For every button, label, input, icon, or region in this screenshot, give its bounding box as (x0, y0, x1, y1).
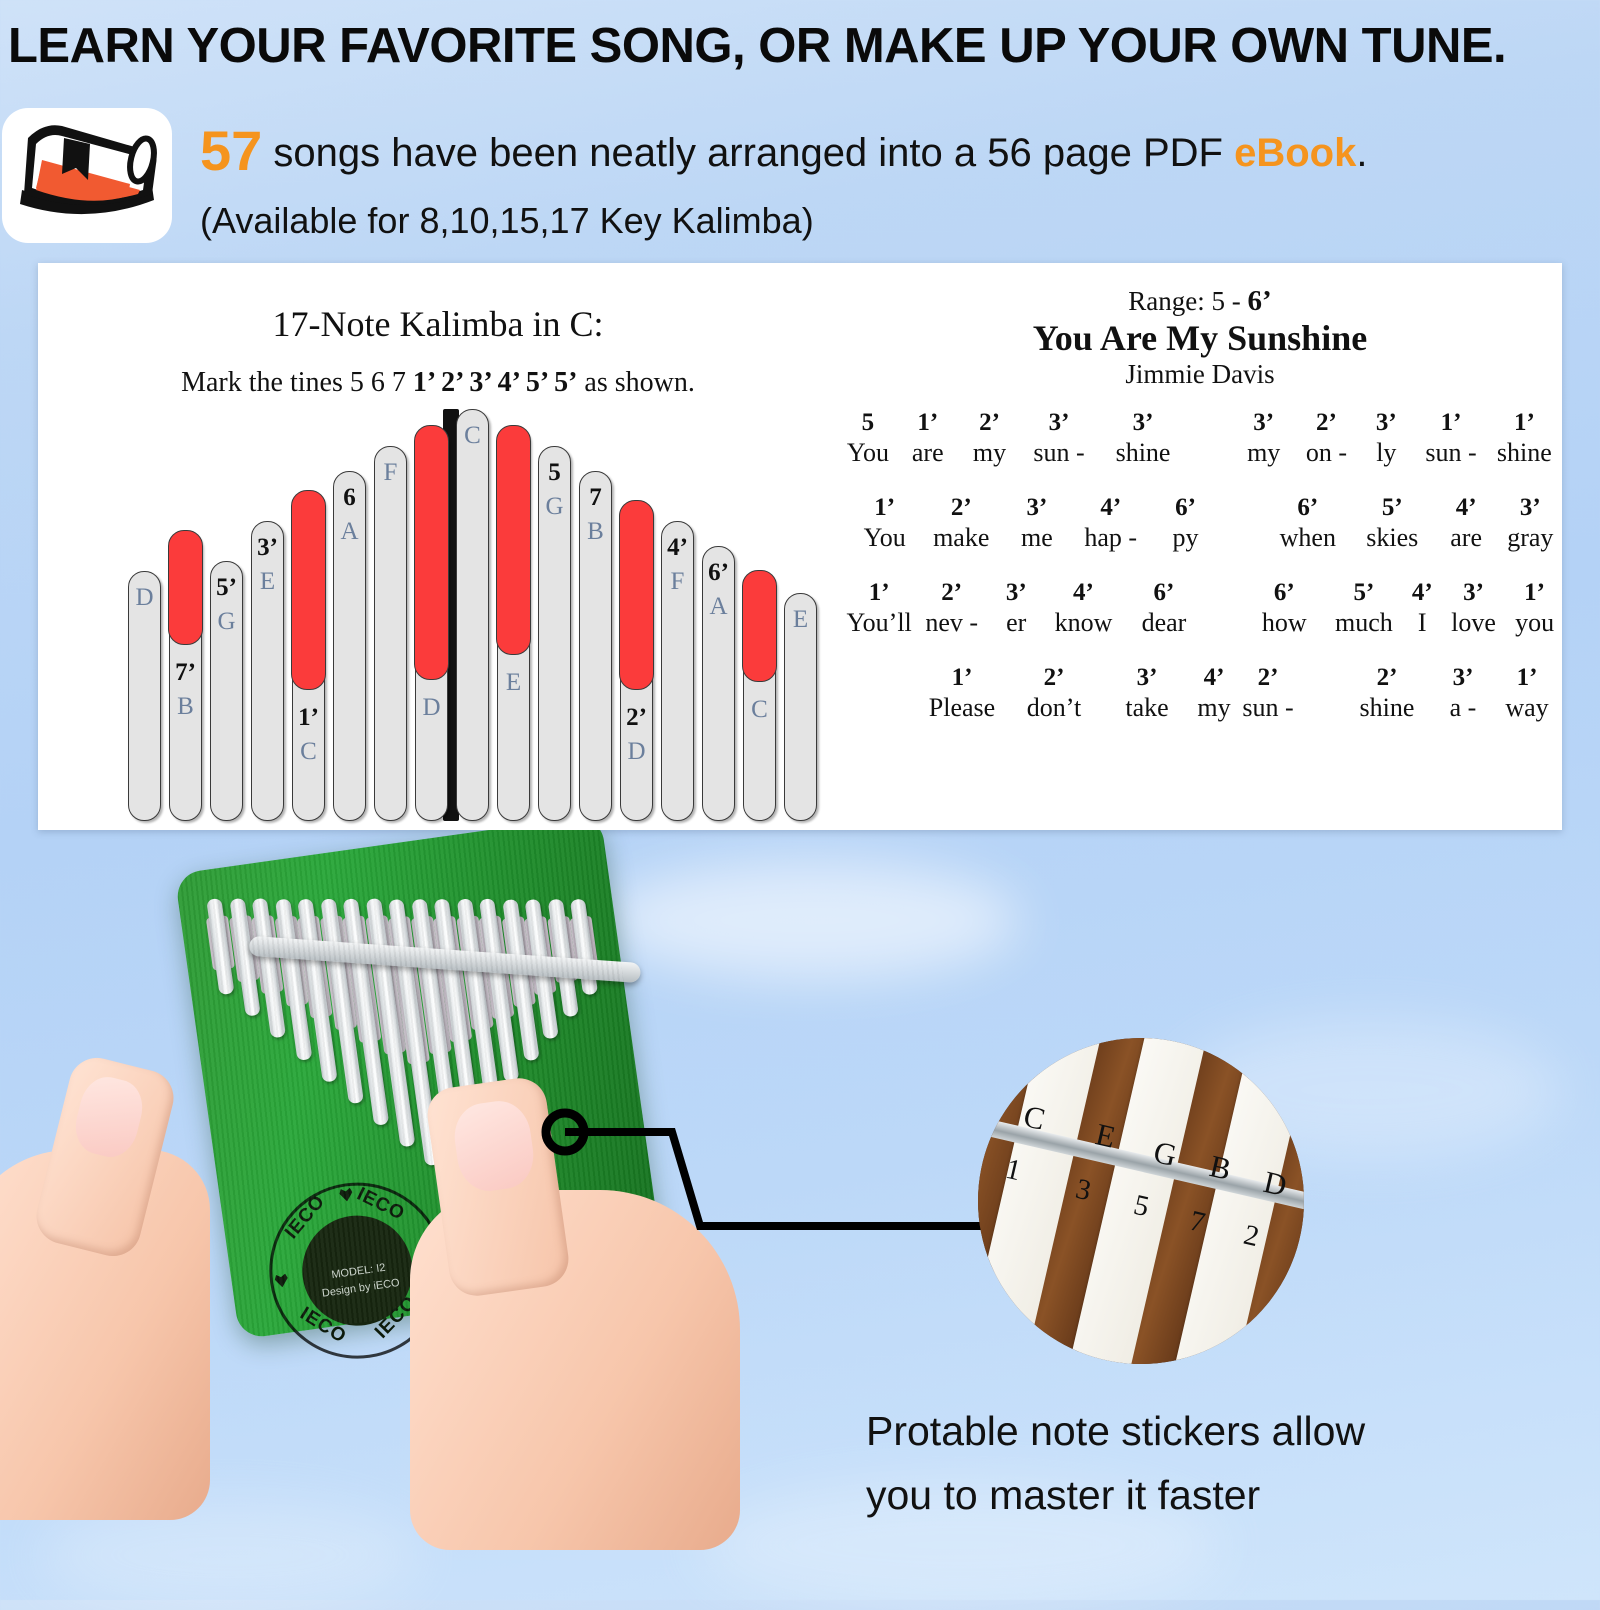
tine-pad (319, 915, 357, 1030)
tine: 1’C (292, 491, 325, 821)
verse-word: sun - (1236, 693, 1300, 723)
verse-word: Please (918, 693, 1006, 723)
verse-word: know (1045, 608, 1121, 638)
tine-letter-label: A (340, 518, 358, 546)
song-title: You Are My Sunshine (838, 317, 1562, 359)
tine-number-label: 5’ (216, 574, 237, 602)
tine-marked-red (619, 500, 653, 690)
verse-note: 2’ (916, 579, 987, 607)
photo-tine (320, 898, 364, 1104)
tine: 5’G (210, 561, 243, 821)
tine-pad (229, 915, 260, 982)
verse-note: 3’ (1499, 494, 1562, 522)
tine-marked-red (496, 425, 530, 655)
tine-pad (547, 916, 578, 983)
tine-pad (524, 916, 557, 995)
verse-note: 3’ (1097, 409, 1190, 437)
verse-word: ly (1357, 438, 1415, 468)
tine: 7’B (169, 531, 202, 821)
tine-pad (479, 916, 515, 1019)
tine-letter-label: C (751, 696, 768, 724)
photo-tine (229, 898, 260, 1017)
tine-letter-label: E (506, 669, 521, 697)
verse-word: me (999, 523, 1075, 553)
verse-word: much (1323, 608, 1404, 638)
tine: 6A (333, 471, 366, 821)
range-high: 6’ (1248, 285, 1272, 317)
verse-note: 6’ (1147, 494, 1224, 522)
tine-letter-label: G (545, 493, 563, 521)
verse-word: my (958, 438, 1022, 468)
verse-word: hap - (1075, 523, 1147, 553)
instruction-pre: Mark the tines (181, 367, 350, 398)
brand-word: IECO (296, 1303, 350, 1348)
song-verse: 1’2’3’4’6’6’5’4’3’Youmakemehap -pywhensk… (846, 494, 1562, 553)
verse-note: 5’ (1323, 579, 1404, 607)
tine-marked-red (742, 570, 776, 682)
verse-note: 6’ (1122, 579, 1207, 607)
verse-note-row: 1’2’3’4’6’6’5’4’3’1’ (842, 579, 1562, 607)
tine-marked-red (414, 425, 448, 680)
verse-word: You’ll (842, 608, 916, 638)
verse-word: are (1434, 523, 1499, 553)
tine-pad (410, 916, 451, 1055)
tine-number-label: 6 (343, 484, 356, 512)
verse-note: 6’ (1245, 579, 1323, 607)
tine-pad (206, 915, 235, 970)
verse-note: 1’ (1487, 409, 1562, 437)
tine: C (743, 571, 776, 821)
verse-word: nev - (916, 608, 987, 638)
tine-number-label: 5 (548, 459, 561, 487)
verse-word: don’t (1006, 693, 1102, 723)
verse-note: 4’ (1434, 494, 1499, 522)
tine-marked-red (291, 490, 325, 690)
verse-note: 1’ (918, 664, 1006, 692)
left-hand (0, 1060, 290, 1520)
verse-word: you (1507, 608, 1562, 638)
verse-word: py (1147, 523, 1224, 553)
range-low: 5 (1212, 286, 1226, 316)
verse-word: way (1498, 693, 1556, 723)
verse-word: skies (1351, 523, 1434, 553)
sticker-zoom-circle: C 1 E 3 G 5 B 7 D 2 (978, 1038, 1304, 1364)
tine-letter-label: B (177, 693, 194, 721)
tine: D (415, 426, 448, 821)
song-verse: 51’2’3’3’3’2’3’1’1’Youaremysun -shinemyo… (838, 409, 1562, 468)
right-hand (380, 1080, 800, 1550)
song-verse: 1’2’3’4’2’2’3’1’Pleasedon’ttakemysun -sh… (918, 664, 1562, 723)
tine: 4’F (661, 521, 694, 821)
song-verses: 51’2’3’3’3’2’3’1’1’Youaremysun -shinemyo… (838, 409, 1562, 749)
verse-note: 2’ (1006, 664, 1102, 692)
kalimba-chart: 17-Note Kalimba in C: Mark the tines 5 6… (58, 263, 818, 830)
verse-note-row: 1’2’3’4’2’2’3’1’ (918, 664, 1562, 692)
verse-word: love (1440, 608, 1507, 638)
verse-spacer (1206, 579, 1245, 607)
tine-letter-label: F (384, 459, 398, 487)
verse-word: a - (1428, 693, 1498, 723)
caption-line-2: you to master it faster (866, 1464, 1566, 1528)
tine-letter-label: E (260, 568, 275, 596)
verse-spacer (1300, 664, 1346, 692)
verse-spacer (1206, 608, 1245, 638)
verse-word: make (923, 523, 999, 553)
verse-word: on - (1296, 438, 1358, 468)
song-artist: Jimmie Davis (838, 359, 1562, 390)
verse-word: my (1192, 693, 1236, 723)
promo-period: . (1356, 131, 1367, 175)
song-sheet: Range: 5 - 6’ You Are My Sunshine Jimmie… (838, 263, 1562, 830)
page-headline: LEARN YOUR FAVORITE SONG, OR MAKE UP YOU… (8, 18, 1592, 74)
song-range: Range: 5 - 6’ (838, 285, 1562, 318)
chart-title: 17-Note Kalimba in C: (58, 303, 818, 345)
tine-number-label: 2’ (626, 704, 647, 732)
verse-word: dear (1122, 608, 1207, 638)
heart-icon (339, 1188, 354, 1203)
tine-diagram: D7’B5’G3’E1’C6AFDCE5G7B2’D4’F6’ACE (126, 431, 826, 821)
verse-note: 1’ (846, 494, 923, 522)
tine: 6’A (702, 546, 735, 821)
tine: 5G (538, 446, 571, 821)
photo-tine (479, 898, 519, 1082)
tine-number-label: 1’ (298, 704, 319, 732)
verse-note: 4’ (1192, 664, 1236, 692)
tine-letter-label: D (135, 584, 153, 612)
verse-lyric-row: Youaremysun -shinemyon -lysun -shine (838, 438, 1562, 468)
verse-spacer (1224, 523, 1264, 553)
tine: E (784, 593, 817, 821)
tine: F (374, 446, 407, 821)
verse-note: 3’ (1428, 664, 1498, 692)
tine-number-label: 3’ (257, 534, 278, 562)
promo-text-block: 57 songs have been neatly arranged into … (200, 118, 1590, 242)
ebook-word: eBook (1234, 131, 1356, 175)
tine-marked-red (168, 530, 202, 645)
caption-line-1: Protable note stickers allow (866, 1400, 1566, 1464)
verse-spacer (1300, 693, 1346, 723)
verse-word: take (1102, 693, 1192, 723)
tine-letter-label: C (464, 422, 481, 450)
tine-pad (365, 915, 406, 1054)
tine-number-label: 6’ (708, 559, 729, 587)
tine-letter-label: D (422, 694, 440, 722)
verse-word: shine (1487, 438, 1562, 468)
verse-note: 3’ (1232, 409, 1296, 437)
range-label: Range: (1128, 286, 1204, 316)
verse-word: sun - (1021, 438, 1096, 468)
verse-word: are (898, 438, 958, 468)
photo-tine (456, 898, 500, 1104)
tine-pad (297, 915, 333, 1018)
verse-spacer (1224, 494, 1264, 522)
tine-letter-label: B (587, 518, 604, 546)
ebook-icon (2, 108, 172, 243)
verse-note: 2’ (958, 409, 1022, 437)
promo-line-1: 57 songs have been neatly arranged into … (200, 118, 1590, 184)
tine-letter-label: A (709, 593, 727, 621)
photo-tine (297, 898, 337, 1082)
verse-note: 6’ (1265, 494, 1351, 522)
verse-spacer (1189, 438, 1231, 468)
verse-word: You (838, 438, 898, 468)
photo-caption: Protable note stickers allow you to mast… (866, 1400, 1566, 1527)
verse-lyric-row: Youmakemehap -pywhenskiesaregray (846, 523, 1562, 553)
verse-note: 3’ (1021, 409, 1096, 437)
song-verse: 1’2’3’4’6’6’5’4’3’1’You’llnev -erknowdea… (842, 579, 1562, 638)
tine-letter-label: G (217, 608, 235, 636)
photo-tine (274, 898, 311, 1061)
tine-letter-label: F (671, 568, 685, 596)
verse-word: sun - (1415, 438, 1486, 468)
photo-tine (502, 898, 539, 1061)
verse-lyric-row: Pleasedon’ttakemysun -shinea -way (918, 693, 1562, 723)
tine: C (456, 409, 489, 821)
photo-tine (547, 898, 578, 1017)
tine-letter-label: C (300, 738, 317, 766)
instruction-sheet-panel: 17-Note Kalimba in C: Mark the tines 5 6… (38, 263, 1562, 830)
instruction-plain-notes: 5 6 7 (350, 367, 413, 398)
tine-pad (501, 916, 535, 1007)
verse-word: shine (1097, 438, 1190, 468)
verse-note: 1’ (842, 579, 916, 607)
photo-tine (570, 899, 598, 996)
verse-note: 3’ (1357, 409, 1415, 437)
tine-pad (251, 915, 284, 994)
verse-word: my (1232, 438, 1296, 468)
verse-note: 3’ (1102, 664, 1192, 692)
verse-note: 5’ (1351, 494, 1434, 522)
instruction-bold-notes: 1’ 2’ 3’ 4’ 5’ 5’ (413, 367, 578, 398)
tine-pad (433, 916, 472, 1043)
tine: D (128, 571, 161, 821)
verse-note: 3’ (999, 494, 1075, 522)
photo-tine (524, 898, 558, 1039)
tine: 7B (579, 471, 612, 821)
verse-note: 1’ (1498, 664, 1556, 692)
tine-letter-label: E (793, 606, 808, 634)
verse-word: er (987, 608, 1045, 638)
verse-note: 2’ (1346, 664, 1428, 692)
promo-middle-text: songs have been neatly arranged into a 5… (262, 131, 1234, 175)
verse-note: 2’ (1236, 664, 1300, 692)
verse-note-row: 51’2’3’3’3’2’3’1’1’ (838, 409, 1562, 437)
verse-note: 1’ (898, 409, 958, 437)
verse-note: 1’ (1415, 409, 1486, 437)
verse-lyric-row: You’llnev -erknowdearhowmuchIloveyou (842, 608, 1562, 638)
verse-word: how (1245, 608, 1323, 638)
tine-number-label: 7 (589, 484, 602, 512)
verse-word: shine (1346, 693, 1428, 723)
photo-tine (206, 898, 234, 995)
verse-word: gray (1499, 523, 1562, 553)
verse-note-row: 1’2’3’4’6’6’5’4’3’ (846, 494, 1562, 522)
verse-note: 4’ (1405, 579, 1440, 607)
verse-note: 2’ (923, 494, 999, 522)
promo-line-2: (Available for 8,10,15,17 Key Kalimba) (200, 200, 1590, 242)
tine: 2’D (620, 501, 653, 821)
tine-pad (342, 915, 381, 1042)
tine-pad (388, 915, 430, 1064)
verse-note: 4’ (1075, 494, 1147, 522)
verse-word: You (846, 523, 923, 553)
tine-number-label: 4’ (667, 534, 688, 562)
tine-pad (456, 916, 494, 1031)
photo-tine (252, 898, 286, 1039)
chart-instruction: Mark the tines 5 6 7 1’ 2’ 3’ 4’ 5’ 5’ a… (58, 367, 818, 399)
tine-number-label: 7’ (175, 659, 196, 687)
tine: 3’E (251, 521, 284, 821)
tine-pad (274, 915, 308, 1006)
verse-spacer (1189, 409, 1231, 437)
tine: E (497, 426, 530, 821)
verse-word: when (1265, 523, 1351, 553)
verse-note: 3’ (1440, 579, 1507, 607)
tine-pad (569, 916, 598, 971)
range-dash: - (1232, 286, 1241, 316)
instruction-post: as shown. (577, 367, 694, 398)
tine-letter-label: D (627, 738, 645, 766)
verse-note: 4’ (1045, 579, 1121, 607)
verse-word: I (1405, 608, 1440, 638)
kalimba-bridge (249, 936, 641, 983)
verse-note: 2’ (1296, 409, 1358, 437)
verse-note: 5 (838, 409, 898, 437)
song-count: 57 (200, 119, 262, 182)
verse-note: 3’ (987, 579, 1045, 607)
verse-note: 1’ (1507, 579, 1562, 607)
